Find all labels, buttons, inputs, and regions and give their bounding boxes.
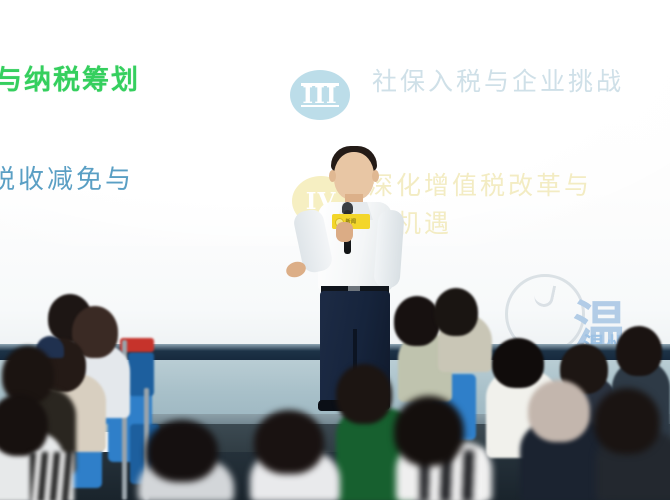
slide-item-blue-line1: 业税收减免与 [0, 165, 134, 195]
photographer-head [492, 338, 544, 388]
slide-numeral-badge-three: III [290, 70, 350, 120]
audience-member-striped-shirt [30, 452, 74, 500]
slide-item-blue-line2: 遇 [0, 200, 134, 240]
speaker-ear-left [329, 170, 336, 182]
chair [128, 352, 154, 396]
speaker-hand-right [336, 222, 353, 242]
audience-member-head [594, 388, 660, 454]
audience-member-head [616, 326, 662, 376]
speaker-head [334, 152, 374, 200]
slide-item-blue-text: 业税收减免与 遇 [0, 160, 134, 240]
audience-member-head [254, 410, 324, 474]
slide-item-three-text: 社保入税与企业挑战 [372, 62, 624, 98]
audience-member-head [394, 396, 464, 466]
slide-item-green-text: 革与纳税筹划 [0, 58, 140, 97]
audience-member-head [434, 288, 478, 336]
audience-member-head [336, 364, 392, 424]
audience-member-head-bald [528, 380, 590, 442]
speaker-arm-right [373, 209, 404, 289]
audience-member-head [146, 420, 218, 482]
presentation-photo: 革与纳税筹划 业税收减免与 遇 III 社保入税与企业挑战 IV 深化增值税改革… [0, 0, 670, 500]
audience-area [0, 292, 670, 500]
audience-member-head [394, 296, 440, 346]
speaker-ear-right [372, 170, 379, 182]
